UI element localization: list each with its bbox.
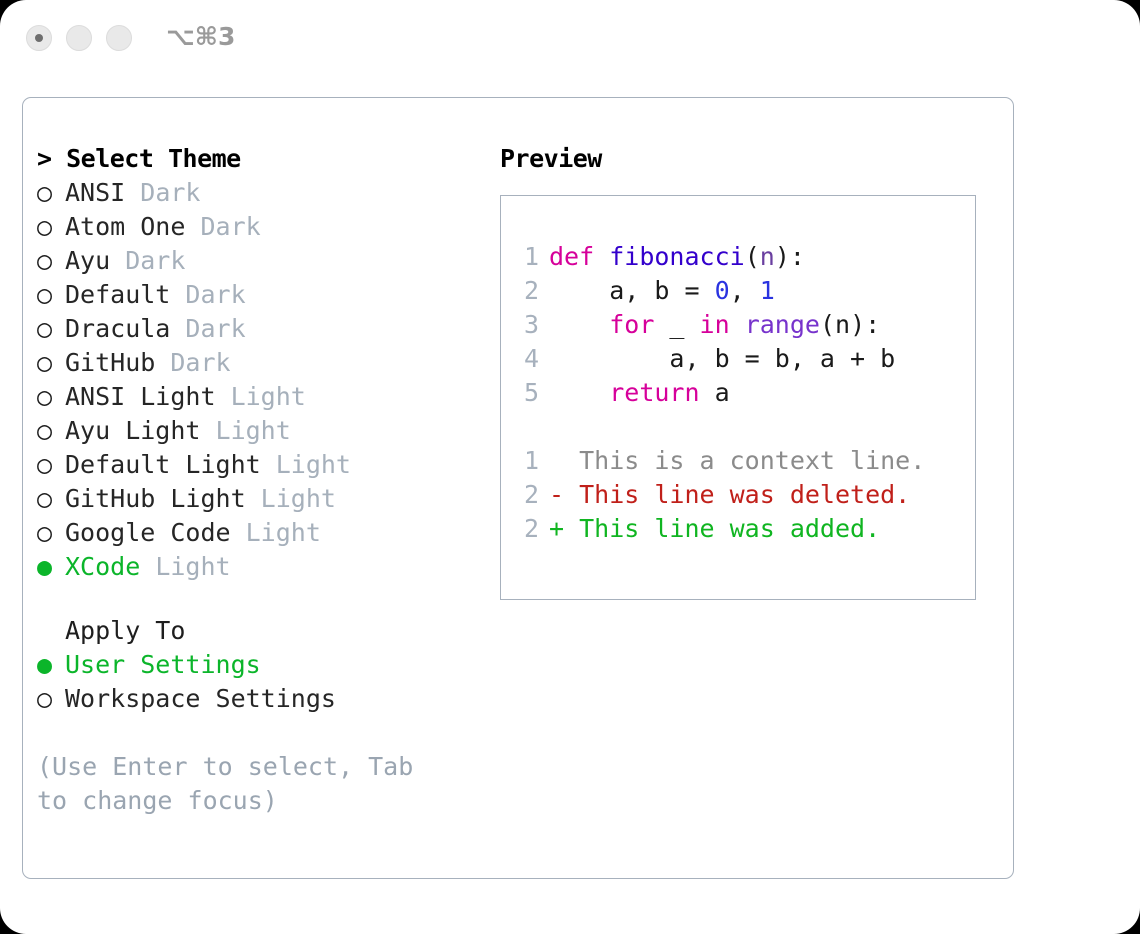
code-token: a, b = [549, 276, 715, 305]
line-number: 3 [513, 308, 539, 342]
theme-name: Dracula [65, 314, 170, 343]
theme-kind-label: Dark [125, 178, 200, 207]
theme-list-item[interactable]: ○Default Light Light [37, 448, 477, 482]
theme-kind-label: Dark [170, 280, 245, 309]
theme-list-item[interactable]: ○Ayu Dark [37, 244, 477, 278]
window-dot-3[interactable] [106, 25, 132, 51]
theme-list-item[interactable]: ○Dracula Dark [37, 312, 477, 346]
theme-list-item[interactable]: ○Ayu Light Light [37, 414, 477, 448]
line-number: 1 [513, 240, 539, 274]
radio-unselected-icon: ○ [37, 380, 65, 414]
code-token: 0 [715, 276, 730, 305]
radio-unselected-icon: ○ [37, 516, 65, 550]
theme-kind-label: Light [140, 552, 230, 581]
radio-unselected-icon: ○ [37, 312, 65, 346]
radio-unselected-icon: ○ [37, 244, 65, 278]
radio-selected-icon: ● [37, 550, 65, 584]
theme-name: GitHub [65, 348, 155, 377]
code-line: 2 a, b = 0, 1 [513, 274, 925, 308]
code-token: for [609, 310, 654, 339]
line-number: 2 [513, 512, 539, 546]
code-token: return [609, 378, 699, 407]
diff-text: - This line was deleted. [549, 480, 910, 509]
radio-unselected-icon: ○ [37, 278, 65, 312]
app-window: ⌥⌘3 > Select Theme ○ANSI Dark○Atom One D… [0, 0, 1140, 934]
apply-to-options: ●User Settings○Workspace Settings [37, 648, 477, 716]
code-token: range [745, 310, 820, 339]
code-line: 4 a, b = b, a + b [513, 342, 925, 376]
radio-unselected-icon: ○ [37, 176, 65, 210]
theme-name: Ayu Light [65, 416, 200, 445]
radio-unselected-icon: ○ [37, 482, 65, 516]
theme-name: ANSI Light [65, 382, 216, 411]
line-number: 1 [513, 444, 539, 478]
code-token: _ [654, 310, 699, 339]
code-text: def fibonacci(n): [549, 242, 805, 271]
theme-list: ○ANSI Dark○Atom One Dark○Ayu Dark○Defaul… [37, 176, 477, 584]
code-token: def [549, 242, 609, 271]
theme-name: Ayu [65, 246, 110, 275]
theme-list-item[interactable]: ●XCode Light [37, 550, 477, 584]
theme-name: Default Light [65, 450, 261, 479]
theme-kind-label: Dark [110, 246, 185, 275]
radio-unselected-icon: ○ [37, 346, 65, 380]
diff-line: 1 This is a context line. [513, 444, 925, 478]
theme-list-item[interactable]: ○Google Code Light [37, 516, 477, 550]
window-dot-active-inner [35, 34, 43, 42]
theme-name: XCode [65, 552, 140, 581]
code-token: ( [745, 242, 760, 271]
apply-to-section: Apply To ●User Settings○Workspace Settin… [37, 614, 477, 716]
apply-to-option[interactable]: ○Workspace Settings [37, 682, 477, 716]
theme-name: Default [65, 280, 170, 309]
code-preview: 1def fibonacci(n):2 a, b = 0, 13 for _ i… [513, 240, 925, 546]
theme-kind-label: Dark [185, 212, 260, 241]
code-token [549, 378, 609, 407]
preview-column: Preview 1def fibonacci(n):2 a, b = 0, 13… [500, 142, 1000, 600]
apply-to-label: User Settings [65, 650, 261, 679]
window-dot-2[interactable] [66, 25, 92, 51]
theme-kind-label: Light [246, 484, 336, 513]
apply-to-label: Workspace Settings [65, 684, 336, 713]
keyboard-hint: (Use Enter to select, Tab to change focu… [37, 750, 457, 818]
theme-kind-label: Dark [155, 348, 230, 377]
select-theme-header: > Select Theme [37, 142, 477, 176]
line-number: 5 [513, 376, 539, 410]
radio-unselected-icon: ○ [37, 210, 65, 244]
line-number: 2 [513, 478, 539, 512]
diff-text: + This line was added. [549, 514, 880, 543]
apply-to-option[interactable]: ●User Settings [37, 648, 477, 682]
theme-list-item[interactable]: ○ANSI Light Light [37, 380, 477, 414]
code-token: 1 [760, 276, 775, 305]
radio-unselected-icon: ○ [37, 448, 65, 482]
code-blank-line [513, 410, 925, 444]
apply-to-header: Apply To [37, 614, 477, 648]
code-token [730, 310, 745, 339]
theme-kind-label: Light [216, 382, 306, 411]
code-line: 5 return a [513, 376, 925, 410]
theme-name: Atom One [65, 212, 185, 241]
theme-list-item[interactable]: ○GitHub Light Light [37, 482, 477, 516]
theme-name: Google Code [65, 518, 231, 547]
theme-list-item[interactable]: ○Atom One Dark [37, 210, 477, 244]
preview-box: 1def fibonacci(n):2 a, b = 0, 13 for _ i… [500, 195, 976, 600]
theme-list-item[interactable]: ○ANSI Dark [37, 176, 477, 210]
theme-kind-label: Light [200, 416, 290, 445]
code-token: fibonacci [609, 242, 744, 271]
radio-unselected-icon: ○ [37, 682, 65, 716]
code-token: a, b = b, a + b [549, 344, 895, 373]
diff-line: 2- This line was deleted. [513, 478, 925, 512]
code-token: , [730, 276, 760, 305]
code-token: (n): [820, 310, 880, 339]
radio-unselected-icon: ○ [37, 414, 65, 448]
code-token: ): [775, 242, 805, 271]
title-bar: ⌥⌘3 [0, 0, 1140, 80]
theme-list-item[interactable]: ○Default Dark [37, 278, 477, 312]
diff-line: 2+ This line was added. [513, 512, 925, 546]
code-token: in [700, 310, 730, 339]
theme-picker-panel: > Select Theme ○ANSI Dark○Atom One Dark○… [22, 97, 1014, 879]
code-line: 1def fibonacci(n): [513, 240, 925, 274]
preview-title: Preview [500, 142, 1000, 176]
code-text: a, b = 0, 1 [549, 276, 775, 305]
keyboard-shortcut-label: ⌥⌘3 [166, 22, 235, 51]
code-line: 3 for _ in range(n): [513, 308, 925, 342]
code-text: for _ in range(n): [549, 310, 880, 339]
theme-name: ANSI [65, 178, 125, 207]
theme-kind-label: Light [261, 450, 351, 479]
code-token: n [760, 242, 775, 271]
line-number: 4 [513, 342, 539, 376]
theme-kind-label: Dark [170, 314, 245, 343]
radio-selected-icon: ● [37, 648, 65, 682]
code-token [549, 310, 609, 339]
code-token: a [700, 378, 730, 407]
code-text: return a [549, 378, 730, 407]
line-number: 2 [513, 274, 539, 308]
code-text: a, b = b, a + b [549, 344, 895, 373]
theme-list-column: > Select Theme ○ANSI Dark○Atom One Dark○… [37, 142, 477, 818]
theme-kind-label: Light [231, 518, 321, 547]
theme-name: GitHub Light [65, 484, 246, 513]
theme-list-item[interactable]: ○GitHub Dark [37, 346, 477, 380]
diff-text: This is a context line. [549, 446, 925, 475]
